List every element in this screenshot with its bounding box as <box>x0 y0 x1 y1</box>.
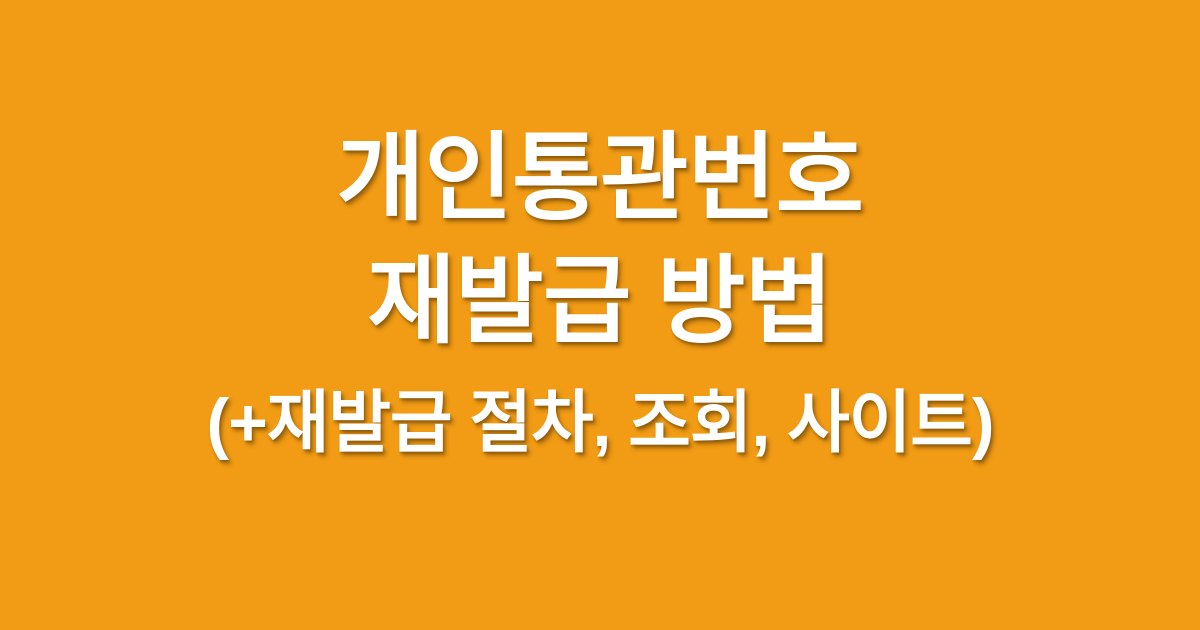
title-block: 개인통관번호 재발급 방법 (+재발급 절차, 조회, 사이트) <box>0 116 1200 468</box>
thumbnail-card: 개인통관번호 재발급 방법 (+재발급 절차, 조회, 사이트) <box>0 0 1200 630</box>
headline-line-1: 개인통관번호 <box>0 116 1200 243</box>
headline-line-2: 재발급 방법 <box>0 239 1200 366</box>
headline-subtitle: (+재발급 절차, 조회, 사이트) <box>0 379 1200 467</box>
